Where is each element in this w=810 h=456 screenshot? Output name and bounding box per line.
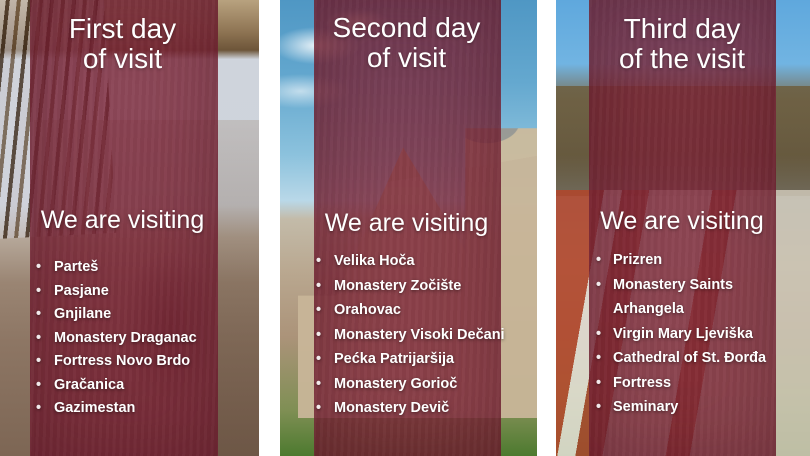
bullet-dot-icon: • <box>596 371 613 396</box>
list-item[interactable]: •Prizren <box>596 248 800 273</box>
bullet-dot-icon: • <box>316 274 334 299</box>
bullet-dot-icon: • <box>36 350 54 374</box>
bullet-dot-icon: • <box>36 280 54 304</box>
list-item[interactable]: •Velika Hoča <box>316 249 513 274</box>
bullet-dot-icon: • <box>316 298 334 323</box>
list-item[interactable]: •Parteš <box>36 256 225 280</box>
list-item-label: Monastery Devič <box>334 396 513 421</box>
list-item-label: Fortress Novo Brdo <box>54 350 225 374</box>
list-item-label: Prizren <box>613 248 800 273</box>
list-item[interactable]: •Monastery Visoki Dečani <box>316 323 513 348</box>
slide-title: Third day of the visit <box>582 14 782 74</box>
list-item[interactable]: •Monastery Devič <box>316 396 513 421</box>
list-item-label: Virgin Mary Ljeviška <box>613 322 800 347</box>
bullet-dot-icon: • <box>596 346 613 371</box>
list-item[interactable]: •Fortress Novo Brdo <box>36 350 225 374</box>
slide-subtitle: We are visiting <box>582 207 782 236</box>
list-item[interactable]: •Gnjilane <box>36 303 225 327</box>
bullet-dot-icon: • <box>36 374 54 398</box>
list-item-label: Monastery Draganac <box>54 327 225 351</box>
list-item-label: Gazimestan <box>54 397 225 421</box>
slide-title: Second day of visit <box>306 13 507 73</box>
bullet-dot-icon: • <box>316 323 334 348</box>
list-item[interactable]: •Gračanica <box>36 374 225 398</box>
slide-subtitle: We are visiting <box>306 209 507 238</box>
list-item[interactable]: •Fortress <box>596 371 800 396</box>
bullet-dot-icon: • <box>36 256 54 280</box>
list-item-label: Monastery Visoki Dečani <box>334 323 513 348</box>
bullet-dot-icon: • <box>596 395 613 420</box>
slide-second-day[interactable]: Second day of visit We are visiting •Vel… <box>280 0 537 456</box>
list-item[interactable]: •Virgin Mary Ljeviška <box>596 322 800 347</box>
slide-third-day[interactable]: Third day of the visit We are visiting •… <box>556 0 810 456</box>
bullet-dot-icon: • <box>316 372 334 397</box>
list-item[interactable]: •Cathedral of St. Đorđa <box>596 346 800 371</box>
list-item-label: Orahovac <box>334 298 513 323</box>
list-item-label: Gnjilane <box>54 303 225 327</box>
list-item-label: Monastery Gorioč <box>334 372 513 397</box>
bullet-dot-icon: • <box>316 249 334 274</box>
list-item-label: Pasjane <box>54 280 225 304</box>
list-item-label: Velika Hoča <box>334 249 513 274</box>
slide-title: First day of visit <box>22 14 223 74</box>
bullet-dot-icon: • <box>36 397 54 421</box>
list-item-label: Monastery Zočište <box>334 274 513 299</box>
list-item-label: Fortress <box>613 371 800 396</box>
bullet-dot-icon: • <box>316 347 334 372</box>
bullet-dot-icon: • <box>596 322 613 347</box>
slide-content: First day of visit We are visiting •Part… <box>0 0 259 456</box>
slide-content: Third day of the visit We are visiting •… <box>556 0 810 456</box>
slide-content: Second day of visit We are visiting •Vel… <box>280 0 537 456</box>
list-item-label: Monastery Saints Arhangela <box>613 273 800 322</box>
list-item-label: Parteš <box>54 256 225 280</box>
list-item[interactable]: •Orahovac <box>316 298 513 323</box>
visit-list: •Parteš •Pasjane •Gnjilane •Monastery Dr… <box>36 256 225 421</box>
list-item-label: Cathedral of St. Đorđa <box>613 346 800 371</box>
slide-first-day[interactable]: First day of visit We are visiting •Part… <box>0 0 259 456</box>
list-item[interactable]: •Monastery Zočište <box>316 274 513 299</box>
bullet-dot-icon: • <box>316 396 334 421</box>
list-item-label: Gračanica <box>54 374 225 398</box>
bullet-dot-icon: • <box>36 303 54 327</box>
bullet-dot-icon: • <box>596 273 613 298</box>
list-item[interactable]: •Monastery Saints Arhangela <box>596 273 800 322</box>
slide-deck: First day of visit We are visiting •Part… <box>0 0 810 456</box>
visit-list: •Prizren •Monastery Saints Arhangela •Vi… <box>596 248 800 420</box>
list-item[interactable]: •Monastery Draganac <box>36 327 225 351</box>
list-item[interactable]: •Pećka Patrijaršija <box>316 347 513 372</box>
bullet-dot-icon: • <box>36 327 54 351</box>
list-item[interactable]: •Pasjane <box>36 280 225 304</box>
visit-list: •Velika Hoča •Monastery Zočište •Orahova… <box>316 249 513 421</box>
bullet-dot-icon: • <box>596 248 613 273</box>
list-item-label: Seminary <box>613 395 800 420</box>
list-item-label: Pećka Patrijaršija <box>334 347 513 372</box>
list-item[interactable]: •Monastery Gorioč <box>316 372 513 397</box>
list-item[interactable]: •Seminary <box>596 395 800 420</box>
list-item[interactable]: •Gazimestan <box>36 397 225 421</box>
slide-subtitle: We are visiting <box>22 206 223 235</box>
